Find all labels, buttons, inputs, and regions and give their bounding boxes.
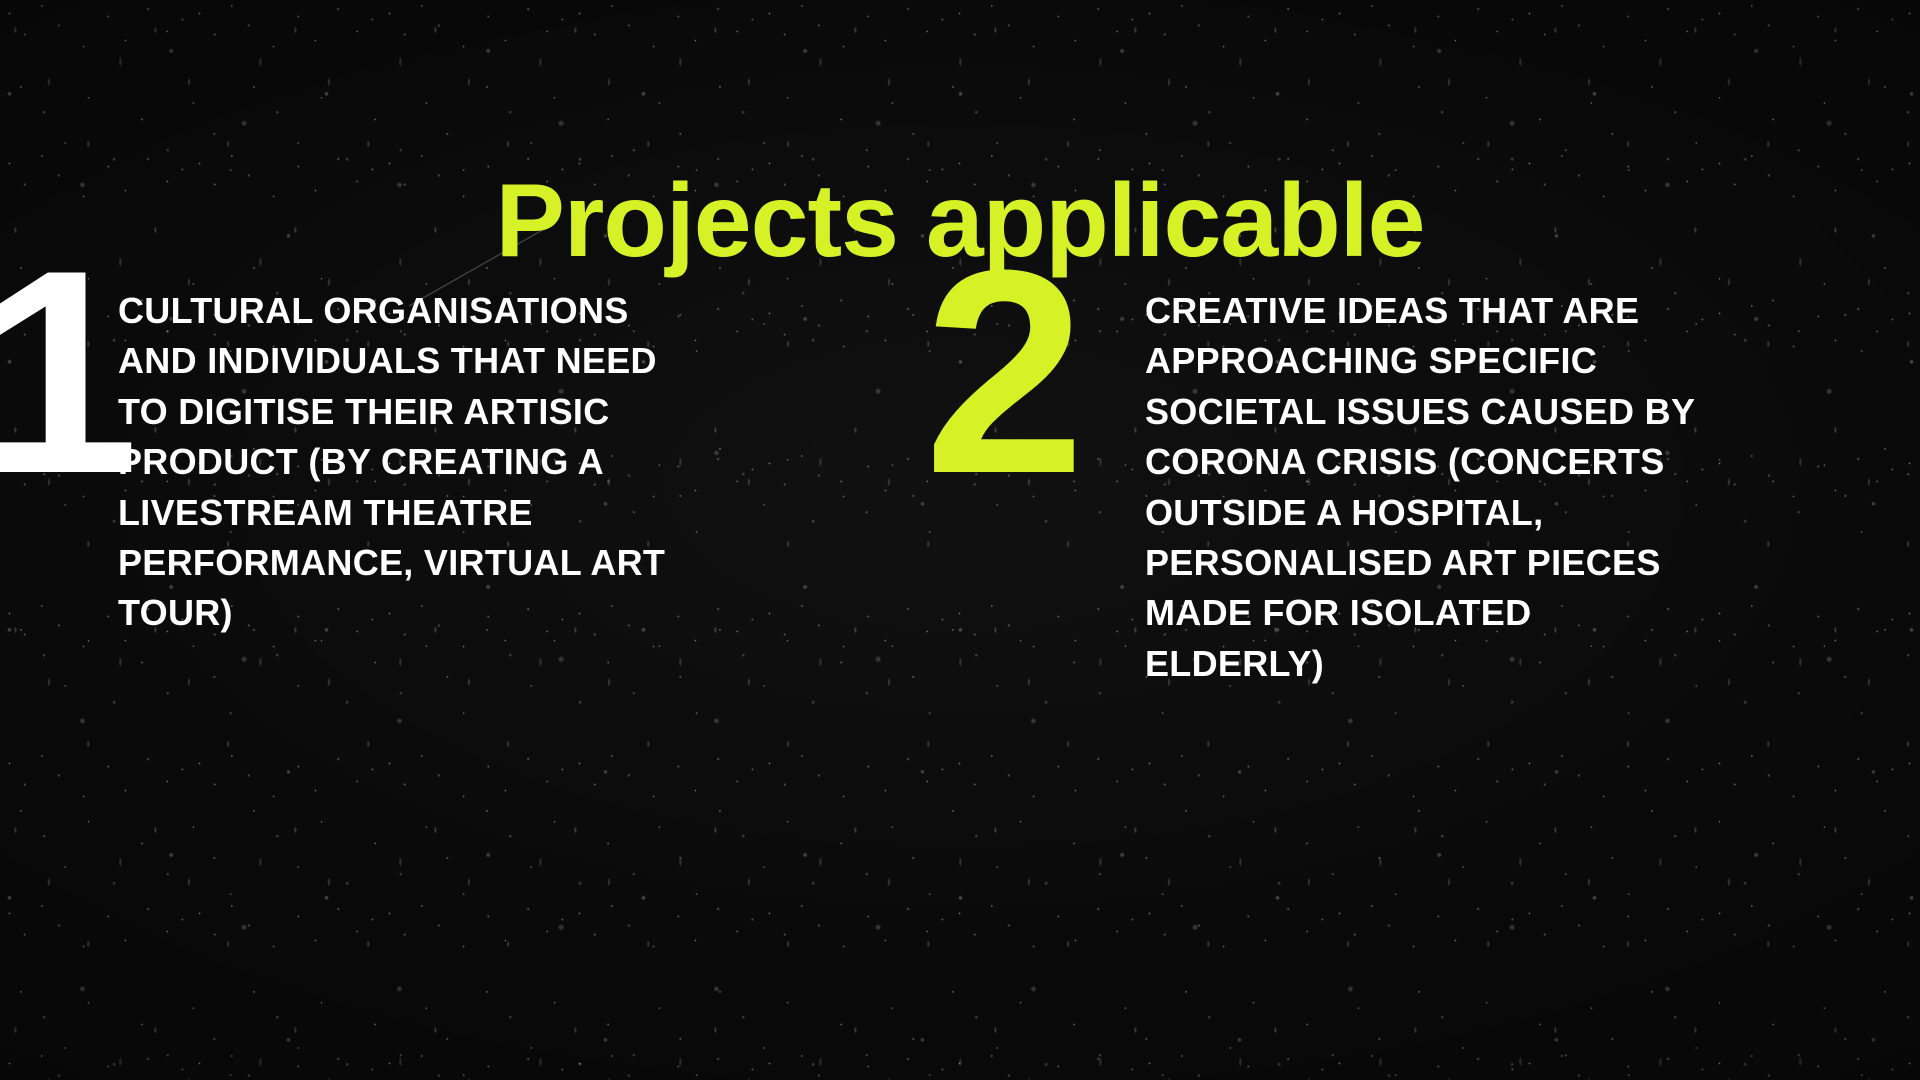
- project-2-line: APPROACHING SPECIFIC: [1145, 336, 1765, 386]
- project-1-line: TOUR): [118, 588, 818, 638]
- project-1-line: AND INDIVIDUALS THAT NEED: [118, 336, 818, 386]
- project-2-line: SOCIETAL ISSUES CAUSED BY: [1145, 387, 1765, 437]
- project-number-1: 1: [0, 254, 131, 492]
- project-1-line: PERFORMANCE, VIRTUAL ART: [118, 538, 818, 588]
- project-1-line: PRODUCT (BY CREATING A: [118, 437, 818, 487]
- project-2-line: PERSONALISED ART PIECES: [1145, 538, 1765, 588]
- project-2-line: OUTSIDE A HOSPITAL,: [1145, 488, 1765, 538]
- project-2-line: CREATIVE IDEAS THAT ARE: [1145, 286, 1765, 336]
- project-number-2: 2: [924, 254, 1077, 492]
- projects-list: 1 CULTURAL ORGANISATIONS AND INDIVIDUALS…: [0, 272, 1920, 872]
- project-description-2: CREATIVE IDEAS THAT ARE APPROACHING SPEC…: [1145, 286, 1765, 689]
- project-2-line: ELDERLY): [1145, 639, 1765, 689]
- slide-canvas: Projects applicable 1 CULTURAL ORGANISAT…: [0, 0, 1920, 1080]
- project-1-line: TO DIGITISE THEIR ARTISIC: [118, 387, 818, 437]
- project-1-line: LIVESTREAM THEATRE: [118, 488, 818, 538]
- project-1-line: CULTURAL ORGANISATIONS: [118, 286, 818, 336]
- project-2-line: MADE FOR ISOLATED: [1145, 588, 1765, 638]
- project-2-line: CORONA CRISIS (CONCERTS: [1145, 437, 1765, 487]
- project-description-1: CULTURAL ORGANISATIONS AND INDIVIDUALS T…: [118, 286, 818, 639]
